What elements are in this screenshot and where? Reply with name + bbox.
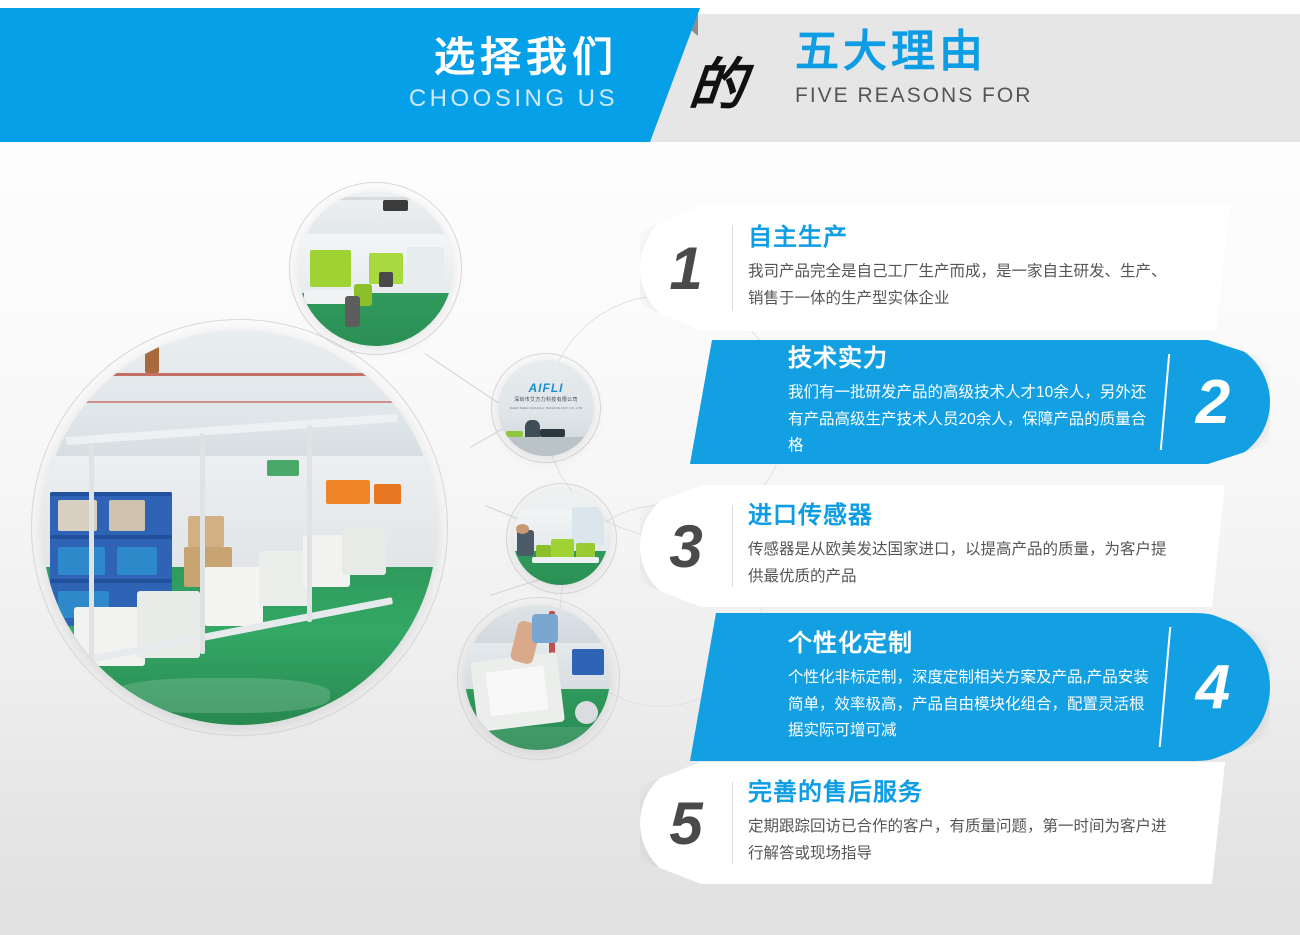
- reason-body-1: 自主生产 我司产品完全是自己工厂生产而成，是一家自主研发、生产、销售于一体的生产…: [748, 205, 1174, 331]
- reason-desc-4: 个性化非标定制，深度定制相关方案及产品,产品安装简单，效率极高，产品自由模块化组…: [788, 665, 1152, 745]
- header-title-cn: 选择我们: [434, 36, 618, 79]
- reason-body-4: 个性化定制 个性化非标定制，深度定制相关方案及产品,产品安装简单，效率极高，产品…: [788, 613, 1152, 761]
- photo-assembly-work: [465, 605, 610, 750]
- photo-collage: AIFLI 深圳市艾方力科技有限公司 SHEN ZHEN AIFANGLI TE…: [30, 175, 650, 840]
- reason-title-2: 技术实力: [788, 344, 1152, 374]
- reason-title-5: 完善的售后服务: [748, 778, 1169, 808]
- reason-title-4: 个性化定制: [788, 629, 1152, 659]
- reception-logo-text: AIFLI: [519, 381, 573, 395]
- reason-desc-2: 我们有一批研发产品的高级技术人才10余人，另外还有产品高级生产技术人员20余人，…: [788, 380, 1152, 460]
- reasons-list: 1 自主生产 我司产品完全是自己工厂生产而成，是一家自主研发、生产、销售于一体的…: [630, 200, 1280, 900]
- photo-production-line: [42, 330, 437, 725]
- header-subtitle-en-2: FIVE REASONS FOR: [795, 82, 1032, 109]
- header-de-character: 的: [686, 40, 751, 121]
- reason-desc-1: 我司产品完全是自己工厂生产而成，是一家自主研发、生产、销售于一体的生产型实体企业: [748, 259, 1174, 312]
- reason-body-5: 完善的售后服务 定期跟踪回访已合作的客户，有质量问题，第一时间为客户进行解答或现…: [748, 762, 1169, 884]
- reason-card-2[interactable]: 技术实力 我们有一批研发产品的高级技术人才10余人，另外还有产品高级生产技术人员…: [690, 340, 1270, 464]
- reason-desc-3: 传感器是从欧美发达国家进口，以提高产品的质量，为客户提供最优质的产品: [748, 537, 1169, 590]
- header-title-cn-2: 五大理由: [795, 28, 1032, 76]
- page-root: 选择我们 CHOOSING US 的 五大理由 FIVE REASONS FOR: [0, 0, 1300, 935]
- photo-office-open-plan: [298, 191, 453, 346]
- reason-title-1: 自主生产: [748, 223, 1174, 253]
- photo-engineering-office: [513, 490, 608, 585]
- reason-divider-5: [732, 782, 733, 864]
- reason-divider-1: [732, 225, 733, 311]
- reason-card-4[interactable]: 个性化定制 个性化非标定制，深度定制相关方案及产品,产品安装简单，效率极高，产品…: [690, 613, 1270, 761]
- reason-number-4: 4: [1170, 613, 1256, 761]
- reason-number-5: 5: [640, 762, 732, 884]
- page-header: 选择我们 CHOOSING US 的 五大理由 FIVE REASONS FOR: [0, 0, 1300, 150]
- header-left-title-group: 选择我们 CHOOSING US: [0, 8, 640, 142]
- reason-card-3[interactable]: 3 进口传感器 传感器是从欧美发达国家进口，以提高产品的质量，为客户提供最优质的…: [640, 485, 1225, 607]
- reason-divider-2: [1160, 354, 1170, 450]
- reason-number-2: 2: [1170, 340, 1256, 464]
- reason-card-1[interactable]: 1 自主生产 我司产品完全是自己工厂生产而成，是一家自主研发、生产、销售于一体的…: [640, 205, 1230, 331]
- reason-card-5[interactable]: 5 完善的售后服务 定期跟踪回访已合作的客户，有质量问题，第一时间为客户进行解答…: [640, 762, 1225, 884]
- header-subtitle-en: CHOOSING US: [409, 83, 618, 114]
- header-right-title-group: 五大理由 FIVE REASONS FOR: [795, 28, 1032, 110]
- reason-number-1: 1: [640, 205, 732, 331]
- reason-body-2: 技术实力 我们有一批研发产品的高级技术人才10余人，另外还有产品高级生产技术人员…: [788, 340, 1152, 464]
- reason-body-3: 进口传感器 传感器是从欧美发达国家进口，以提高产品的质量，为客户提供最优质的产品: [748, 485, 1169, 607]
- reason-number-3: 3: [640, 485, 732, 607]
- reception-logo-en: SHEN ZHEN AIFANGLI TECHNOLOGY CO.,LTD: [504, 406, 588, 410]
- reason-desc-5: 定期跟踪回访已合作的客户，有质量问题，第一时间为客户进行解答或现场指导: [748, 814, 1169, 867]
- reason-title-3: 进口传感器: [748, 501, 1169, 531]
- reception-logo-cn: 深圳市艾方力科技有限公司: [506, 396, 587, 403]
- photo-reception-lobby: AIFLI 深圳市艾方力科技有限公司 SHEN ZHEN AIFANGLI TE…: [498, 360, 594, 456]
- reason-divider-3: [732, 505, 733, 587]
